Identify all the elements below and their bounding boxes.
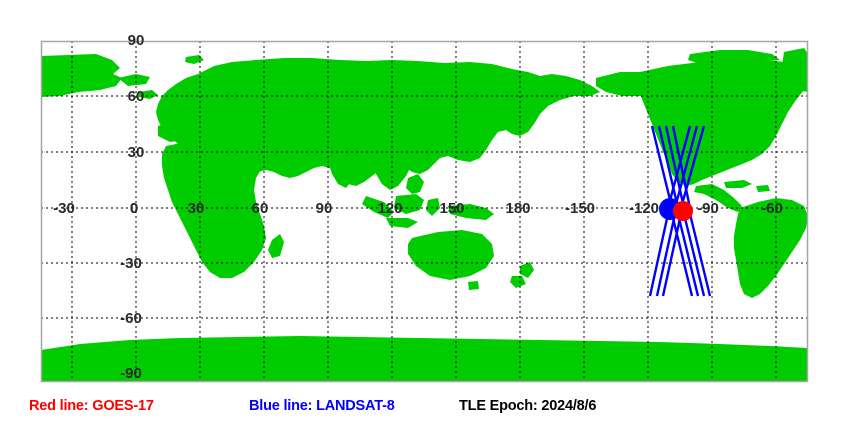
- lat-label-90n: 90: [128, 32, 145, 49]
- lon-label-180: 180: [505, 200, 530, 217]
- world-map-panel: -30 0 30 60 90 120 150 180 -150 -120 -90…: [0, 0, 850, 392]
- land-korea: [420, 126, 428, 138]
- legend-blue-line-landsat8: Blue line: LANDSAT-8: [249, 398, 395, 414]
- goes17-position-marker[interactable]: [673, 201, 693, 221]
- legend-bar: Red line: GOES-17 Blue line: LANDSAT-8 T…: [0, 392, 850, 425]
- lon-label-m150: -150: [565, 200, 595, 217]
- lon-label-30: 30: [188, 200, 205, 217]
- lat-label-0: 0: [130, 200, 138, 217]
- lat-label-60s: -60: [120, 310, 142, 327]
- lat-label-30n: 30: [128, 144, 145, 161]
- lon-label-120: 120: [377, 200, 402, 217]
- legend-tle-epoch: TLE Epoch: 2024/8/6: [459, 398, 596, 414]
- land-tasmania: [468, 281, 479, 290]
- lon-label-m60: -60: [761, 200, 783, 217]
- world-map-canvas: -30 0 30 60 90 120 150 180 -150 -120 -90…: [0, 0, 850, 392]
- lon-label-m90: -90: [697, 200, 719, 217]
- legend-red-line-goes17: Red line: GOES-17: [29, 398, 154, 414]
- lat-label-90s: -90: [120, 365, 142, 382]
- satellite-ground-track-map: -30 0 30 60 90 120 150 180 -150 -120 -90…: [0, 0, 850, 425]
- lon-label-60: 60: [252, 200, 269, 217]
- lon-label-m30: -30: [53, 200, 75, 217]
- lon-label-m120: -120: [629, 200, 659, 217]
- lon-label-150: 150: [439, 200, 464, 217]
- lat-label-60n: 60: [128, 88, 145, 105]
- land-hispaniola: [756, 185, 770, 192]
- lon-label-90: 90: [316, 200, 333, 217]
- lat-label-30s: -30: [120, 255, 142, 272]
